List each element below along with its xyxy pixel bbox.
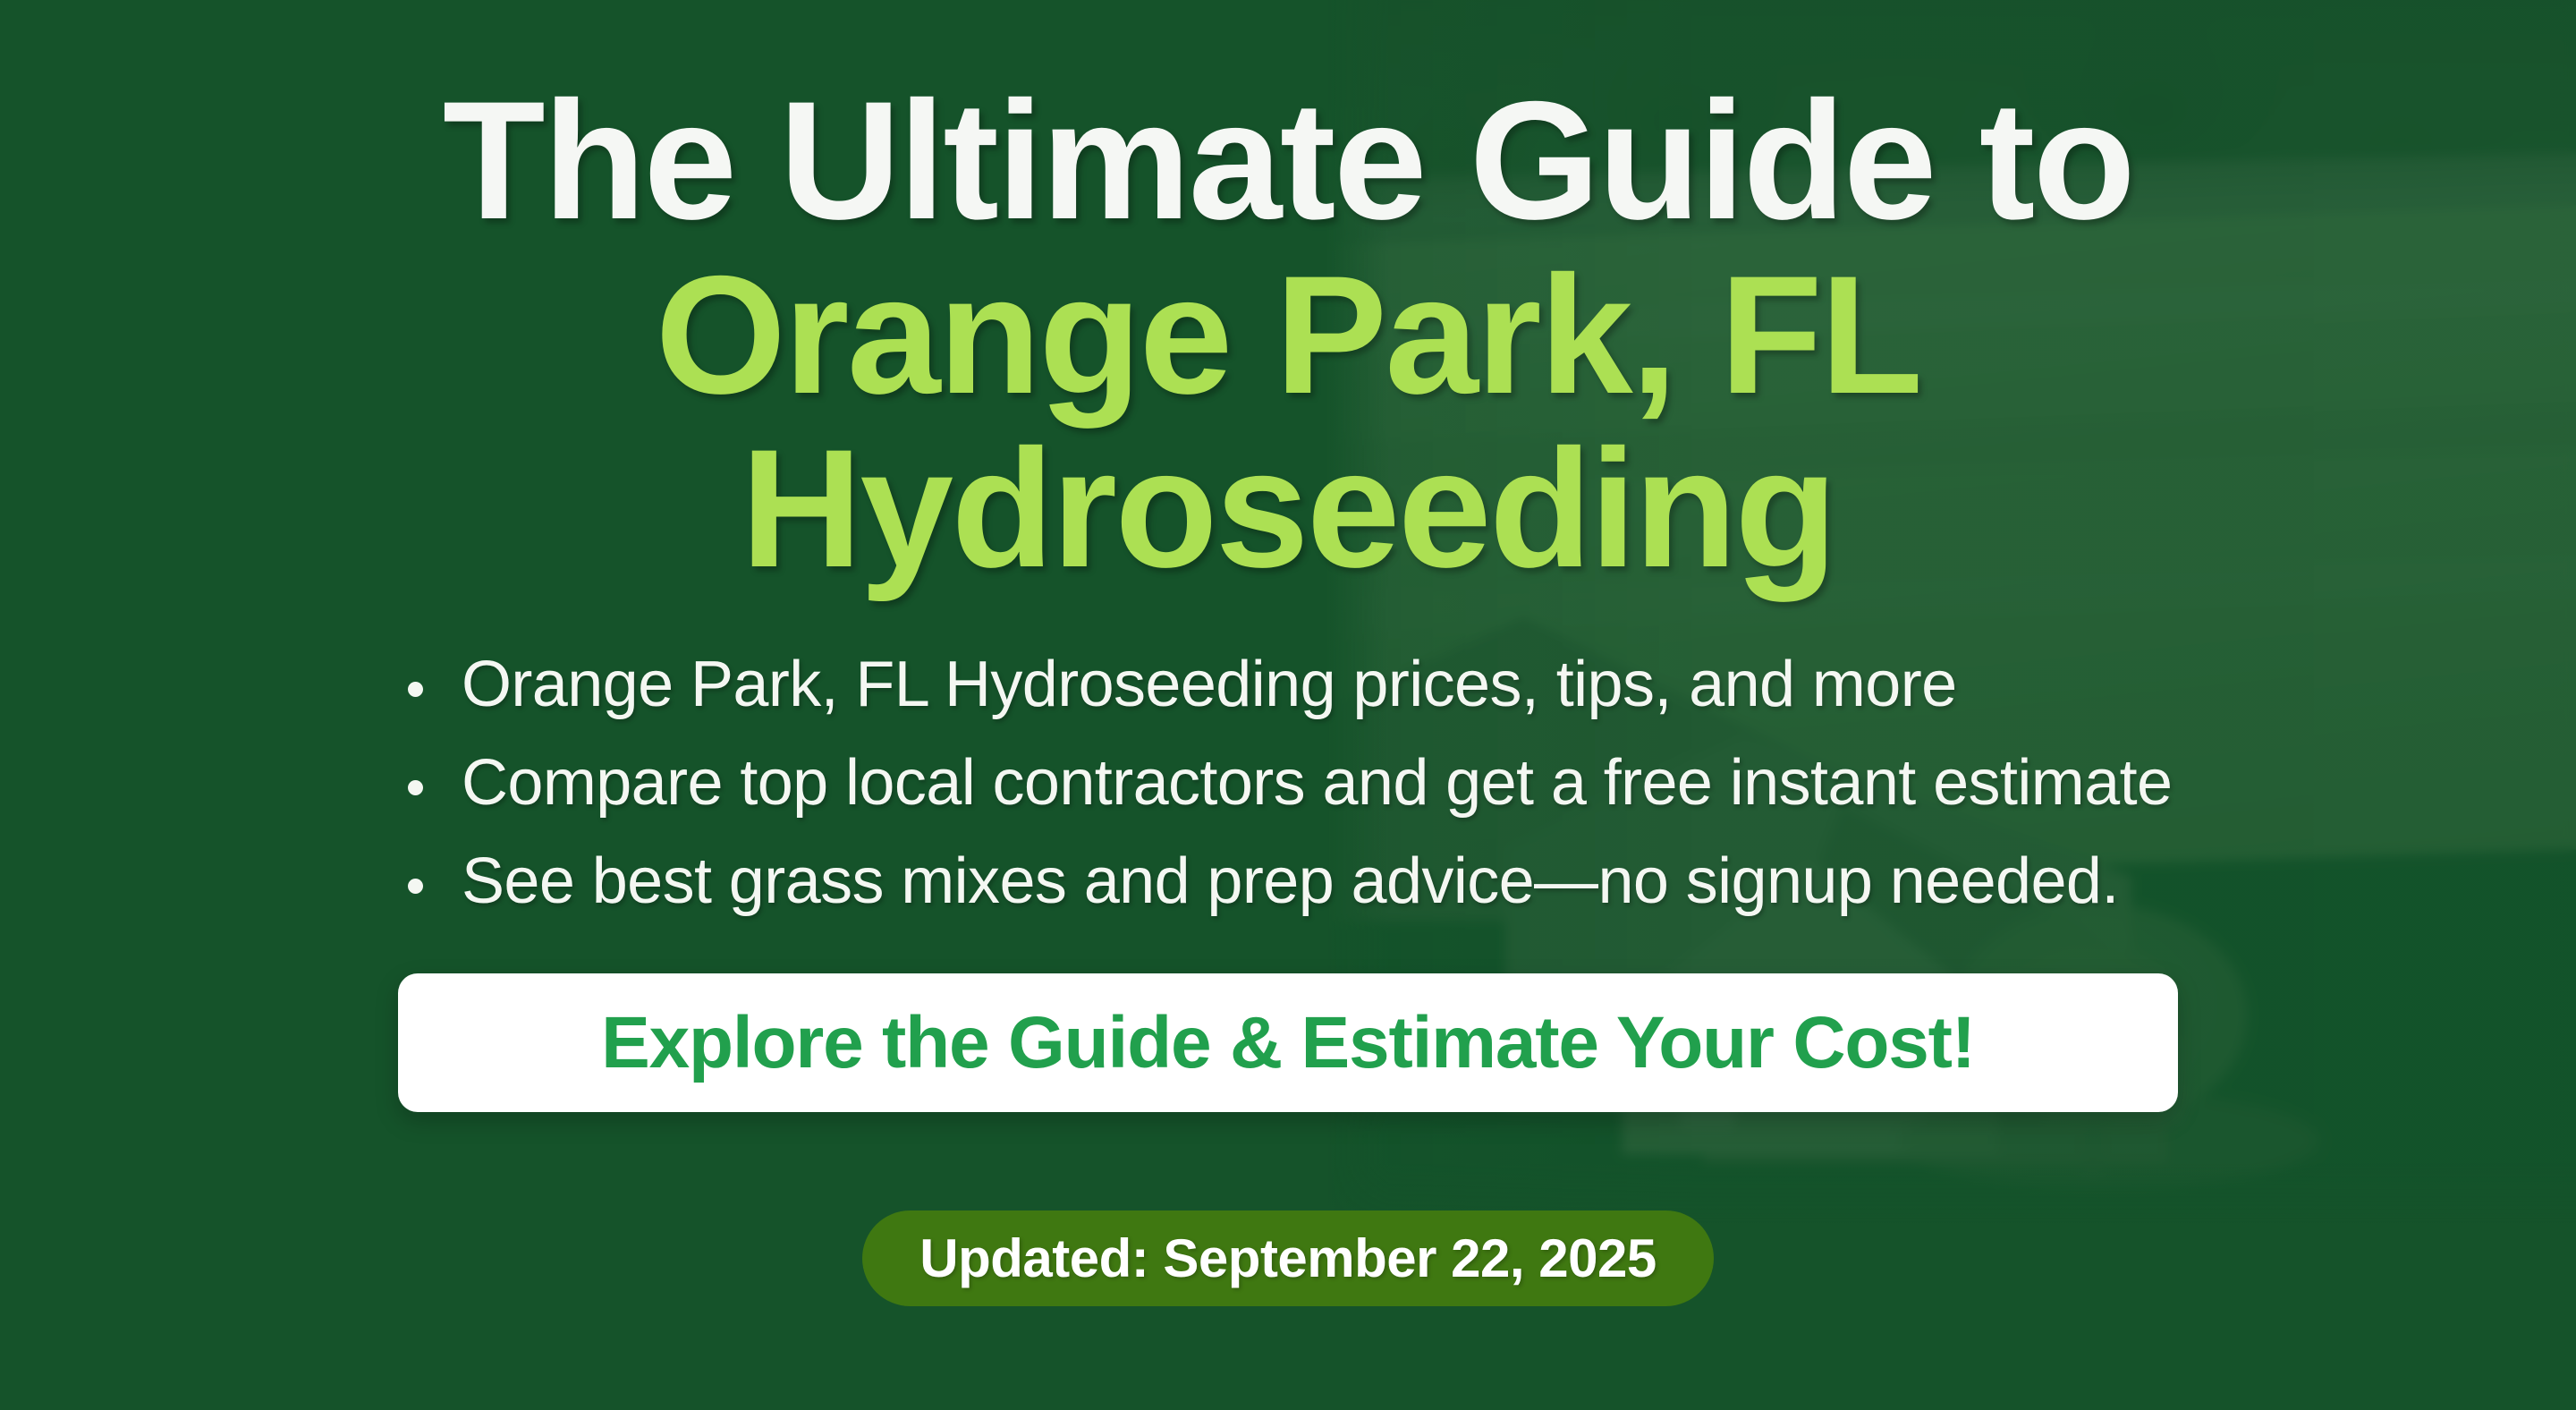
list-item: Orange Park, FL Hydroseeding prices, tip… — [401, 651, 2196, 718]
explore-guide-cta-button[interactable]: Explore the Guide & Estimate Your Cost! — [398, 973, 2178, 1112]
updated-date-badge: Updated: September 22, 2025 — [862, 1210, 1713, 1306]
list-item: See best grass mixes and prep advice—no … — [401, 848, 2196, 914]
bullet-dot-icon — [408, 879, 423, 894]
hero-banner: The Ultimate Guide to Orange Park, FL Hy… — [0, 0, 2576, 1410]
page-title: The Ultimate Guide to Orange Park, FL Hy… — [380, 73, 2196, 596]
list-item-label: See best grass mixes and prep advice—no … — [462, 845, 2119, 917]
bullet-dot-icon — [408, 682, 423, 697]
headline-line-primary: The Ultimate Guide to — [380, 73, 2196, 248]
list-item-label: Compare top local contractors and get a … — [462, 747, 2172, 819]
bullet-dot-icon — [408, 780, 423, 795]
list-item: Compare top local contractors and get a … — [401, 750, 2196, 816]
list-item-label: Orange Park, FL Hydroseeding prices, tip… — [462, 649, 1957, 720]
hero-content: The Ultimate Guide to Orange Park, FL Hy… — [0, 0, 2576, 1410]
benefit-list: Orange Park, FL Hydroseeding prices, tip… — [380, 651, 2196, 914]
headline-line-accent: Orange Park, FL Hydroseeding — [380, 248, 2196, 596]
